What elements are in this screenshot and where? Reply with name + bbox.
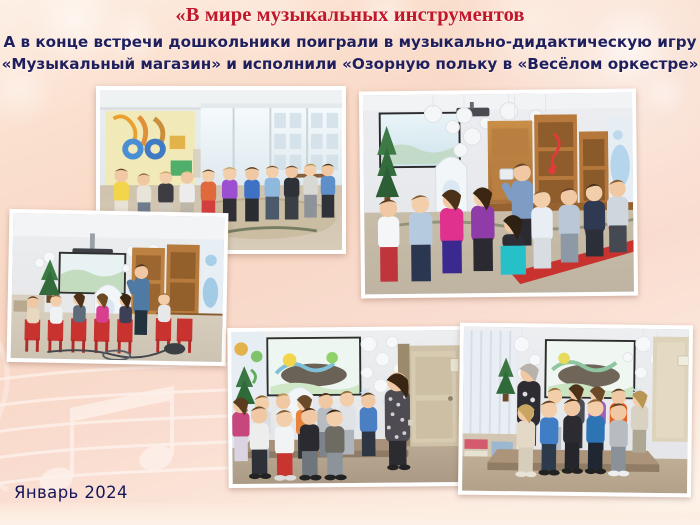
bokeh-circle [640, 70, 688, 118]
photo-group-stage-image [462, 327, 689, 494]
subtitle-line-2: «Музыкальный магазин» и исполнили «Озорн… [0, 55, 700, 73]
slide-canvas: «В мире музыкальных инструментов А в кон… [0, 0, 700, 525]
photo-group-stage [458, 323, 693, 498]
photo-teacher-screen-image [363, 93, 634, 295]
photo-group-teacher-image [231, 330, 466, 484]
photo-teacher-screen [359, 89, 638, 299]
photo-group-teacher [227, 326, 470, 488]
photo-seated-children [7, 209, 229, 366]
photo-seated-children-image [11, 213, 225, 362]
page-title: «В мире музыкальных инструментов [0, 4, 700, 27]
subtitle-line-1: А в конце встречи дошкольники поиграли в… [0, 33, 700, 51]
bottom-light-band [0, 503, 700, 525]
date-label: Январь 2024 [14, 483, 128, 502]
